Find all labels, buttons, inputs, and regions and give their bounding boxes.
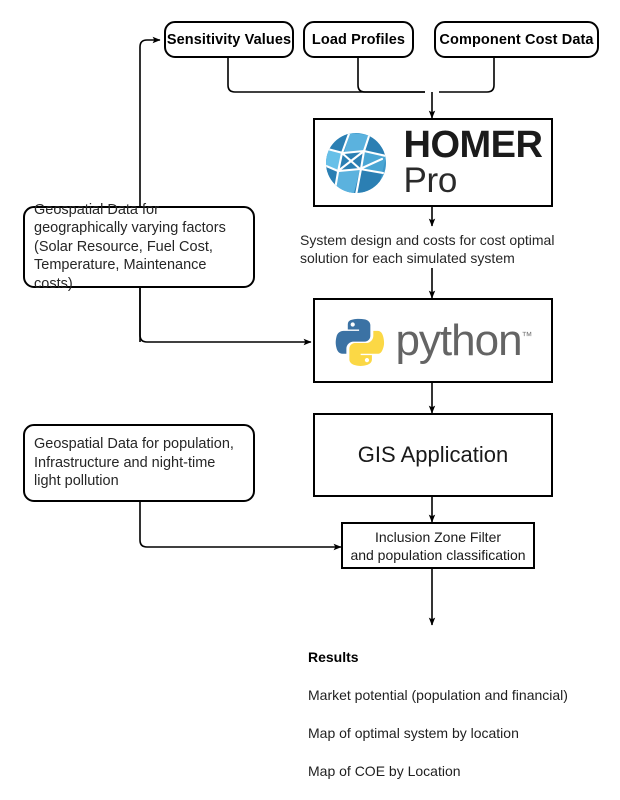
homer-name-secondary: Pro [404, 164, 543, 198]
globe-icon [324, 131, 388, 195]
node-geospatial-varying-factors-label: Geospatial Data for geographically varyi… [25, 201, 253, 294]
node-inclusion-zone-filter[interactable]: Inclusion Zone Filter and population cla… [341, 522, 535, 569]
node-python[interactable]: python™ [313, 298, 553, 383]
results-title: Results [308, 648, 608, 667]
node-component-cost-data[interactable]: Component Cost Data [434, 21, 599, 58]
flowchart-canvas: Sensitivity Values Load Profiles Compone… [0, 0, 620, 720]
results-item-2: Map of COE by Location [308, 762, 608, 781]
homer-name-primary: HOMER [404, 127, 543, 163]
python-wordmark-wrap: python™ [395, 319, 532, 363]
results-block: Results Market potential (population and… [308, 629, 608, 800]
filter-label-line1: Inclusion Zone Filter [375, 529, 501, 545]
node-gis-application-label: GIS Application [358, 442, 508, 468]
node-geospatial-varying-factors[interactable]: Geospatial Data for geographically varyi… [23, 206, 255, 288]
node-component-cost-data-label: Component Cost Data [439, 32, 593, 48]
homer-output-caption: System design and costs for cost optimal… [300, 231, 590, 267]
node-geospatial-population-label: Geospatial Data for population, Infrastr… [25, 435, 253, 491]
trademark-icon: ™ [522, 330, 533, 342]
node-sensitivity-values[interactable]: Sensitivity Values [164, 21, 294, 58]
node-gis-application[interactable]: GIS Application [313, 413, 553, 497]
node-load-profiles[interactable]: Load Profiles [303, 21, 414, 58]
node-sensitivity-values-label: Sensitivity Values [167, 32, 291, 48]
node-load-profiles-label: Load Profiles [312, 32, 405, 48]
node-homer-pro[interactable]: HOMER Pro [313, 118, 553, 207]
results-item-1: Map of optimal system by location [308, 724, 608, 743]
node-geospatial-population[interactable]: Geospatial Data for population, Infrastr… [23, 424, 255, 502]
python-wordmark: python [395, 316, 521, 365]
results-item-0: Market potential (population and financi… [308, 686, 608, 705]
python-snakes-icon [333, 315, 385, 367]
filter-label-line2: and population classification [350, 547, 525, 563]
